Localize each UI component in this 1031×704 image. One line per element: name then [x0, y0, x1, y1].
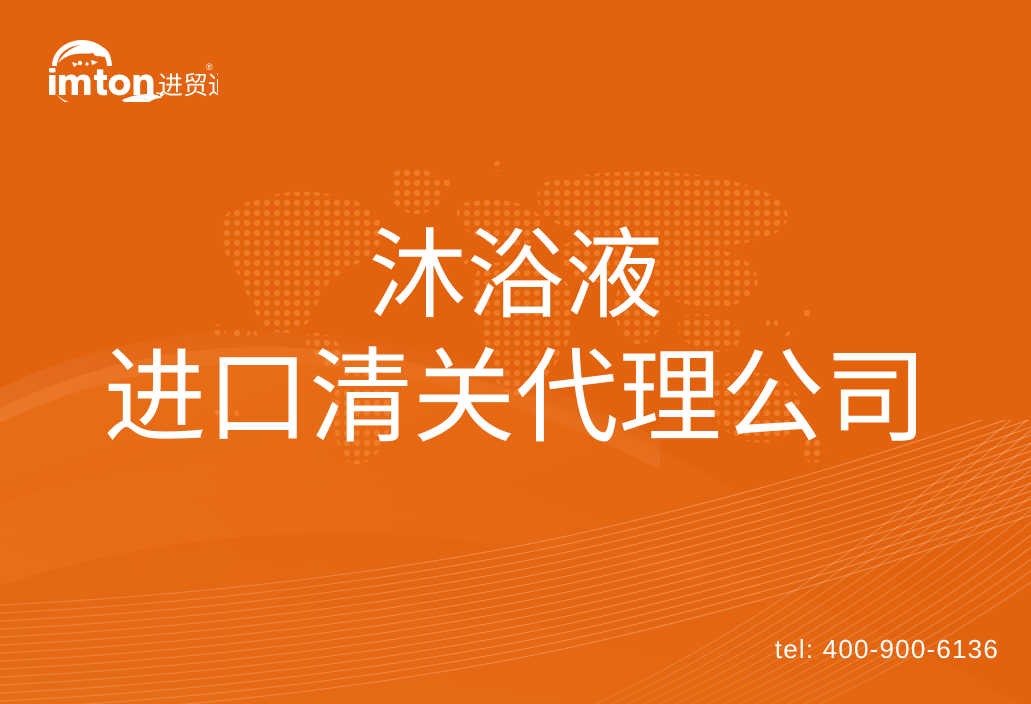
- logo-chinese-label: 进贸通: [158, 71, 218, 100]
- brand-logo[interactable]: 进贸通 ®: [38, 30, 218, 102]
- registered-trademark-icon: ®: [206, 62, 213, 72]
- telephone-label: tel: 400-900-6136: [775, 634, 999, 665]
- logo-wordmark: [49, 68, 153, 95]
- headline-line-2: 进口清关代理公司: [0, 346, 1031, 449]
- headline-line-1: 沐浴液: [0, 226, 1031, 324]
- globe-arc-icon: [52, 40, 112, 67]
- headline-block: 沐浴液 进口清关代理公司: [0, 226, 1031, 449]
- promo-banner: 进贸通 ® 沐浴液 进口清关代理公司 tel: 400-900-6136: [0, 0, 1031, 704]
